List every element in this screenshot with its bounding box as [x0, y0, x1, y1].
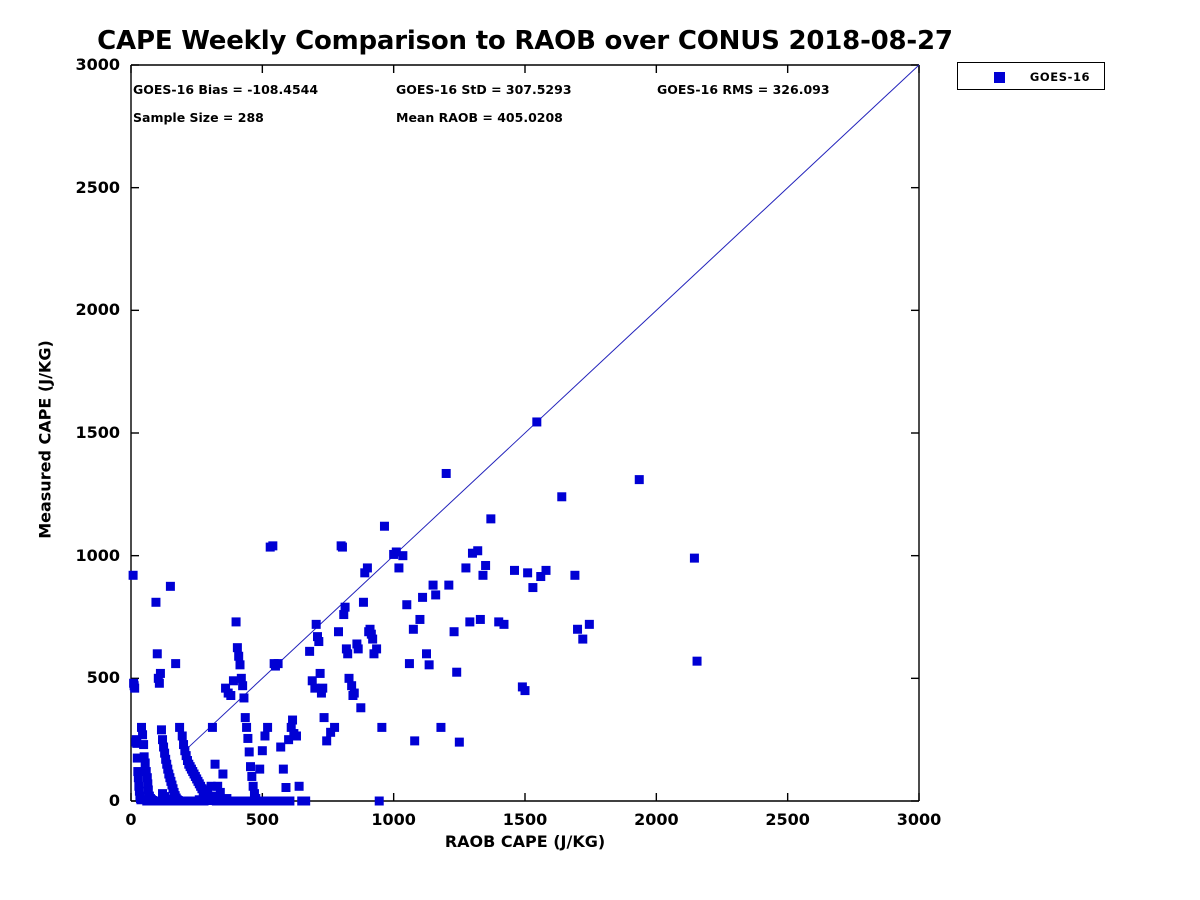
scatter-point: [405, 659, 414, 668]
plot-canvas: [0, 0, 1200, 900]
scatter-point: [285, 797, 294, 806]
scatter-point: [276, 743, 285, 752]
scatter-point: [473, 546, 482, 555]
scatter-point: [478, 571, 487, 580]
scatter-point: [274, 659, 283, 668]
scatter-point: [207, 782, 216, 791]
scatter-point: [557, 492, 566, 501]
scatter-point: [452, 668, 461, 677]
y-tick-label: 1000: [40, 546, 120, 565]
scatter-point: [208, 723, 217, 732]
scatter-point: [255, 765, 264, 774]
scatter-point: [153, 649, 162, 658]
scatter-point: [444, 581, 453, 590]
legend-marker-icon: [994, 72, 1005, 83]
scatter-point: [330, 723, 339, 732]
scatter-point: [281, 783, 290, 792]
scatter-point: [305, 647, 314, 656]
scatter-point: [442, 469, 451, 478]
scatter-point: [476, 615, 485, 624]
scatter-point: [156, 669, 165, 678]
scatter-points-group: [129, 417, 702, 805]
scatter-point: [218, 770, 227, 779]
scatter-point: [523, 568, 532, 577]
x-tick-label: 1500: [485, 810, 565, 829]
scatter-point: [242, 723, 251, 732]
scatter-point: [171, 659, 180, 668]
scatter-point: [175, 723, 184, 732]
scatter-point: [295, 782, 304, 791]
scatter-point: [380, 522, 389, 531]
legend[interactable]: GOES-16: [957, 62, 1105, 90]
x-tick-label: 0: [91, 810, 171, 829]
scatter-point: [233, 643, 242, 652]
scatter-point: [377, 723, 386, 732]
scatter-point: [141, 758, 150, 767]
scatter-point: [247, 772, 256, 781]
scatter-point: [178, 731, 187, 740]
scatter-point: [260, 731, 269, 740]
scatter-plot-figure: CAPE Weekly Comparison to RAOB over CONU…: [0, 0, 1200, 900]
scatter-point: [368, 635, 377, 644]
scatter-point: [510, 566, 519, 575]
scatter-point: [481, 561, 490, 570]
scatter-point: [486, 514, 495, 523]
scatter-point: [334, 627, 343, 636]
scatter-point: [238, 681, 247, 690]
scatter-point: [499, 620, 508, 629]
scatter-point: [690, 554, 699, 563]
scatter-point: [422, 649, 431, 658]
scatter-point: [157, 725, 166, 734]
scatter-point: [431, 590, 440, 599]
scatter-point: [343, 649, 352, 658]
scatter-point: [250, 797, 259, 806]
scatter-point: [229, 676, 238, 685]
scatter-point: [226, 691, 235, 700]
scatter-point: [415, 615, 424, 624]
scatter-point: [410, 736, 419, 745]
scatter-point: [316, 669, 325, 678]
scatter-point: [425, 660, 434, 669]
scatter-point: [570, 571, 579, 580]
scatter-point: [461, 563, 470, 572]
scatter-point: [232, 617, 241, 626]
scatter-point: [635, 475, 644, 484]
scatter-point: [166, 582, 175, 591]
scatter-point: [134, 773, 143, 782]
scatter-point: [465, 617, 474, 626]
scatter-point: [350, 689, 359, 698]
scatter-point: [528, 583, 537, 592]
scatter-point: [292, 731, 301, 740]
scatter-point: [246, 762, 255, 771]
scatter-point: [318, 684, 327, 693]
scatter-point: [573, 625, 582, 634]
scatter-point: [429, 581, 438, 590]
scatter-point: [288, 716, 297, 725]
scatter-point: [542, 566, 551, 575]
y-tick-label: 2500: [40, 178, 120, 197]
scatter-point: [301, 797, 310, 806]
scatter-point: [436, 723, 445, 732]
scatter-point: [243, 734, 252, 743]
scatter-point: [356, 703, 365, 712]
scatter-point: [375, 797, 384, 806]
x-tick-label: 2500: [748, 810, 828, 829]
y-tick-label: 500: [40, 668, 120, 687]
scatter-point: [245, 747, 254, 756]
x-axis-label: RAOB CAPE (J/KG): [0, 832, 1050, 851]
scatter-point: [354, 644, 363, 653]
scatter-point: [402, 600, 411, 609]
scatter-point: [138, 730, 147, 739]
scatter-point: [211, 760, 220, 769]
scatter-point: [359, 598, 368, 607]
scatter-point: [263, 723, 272, 732]
scatter-point: [139, 740, 148, 749]
scatter-point: [258, 746, 267, 755]
scatter-point: [236, 660, 245, 669]
scatter-point: [264, 797, 273, 806]
scatter-point: [532, 417, 541, 426]
scatter-point: [268, 541, 277, 550]
scatter-point: [398, 551, 407, 560]
y-tick-label: 2000: [40, 300, 120, 319]
scatter-point: [363, 563, 372, 572]
one-to-one-reference-line: [184, 65, 919, 752]
scatter-point: [322, 736, 331, 745]
scatter-point: [129, 571, 138, 580]
scatter-point: [450, 627, 459, 636]
scatter-point: [341, 603, 350, 612]
scatter-point: [320, 713, 329, 722]
legend-label: GOES-16: [1018, 70, 1102, 84]
scatter-point: [312, 620, 321, 629]
scatter-point: [241, 713, 250, 722]
y-tick-label: 1500: [40, 423, 120, 442]
scatter-point: [409, 625, 418, 634]
scatter-point: [155, 679, 164, 688]
scatter-point: [693, 657, 702, 666]
x-tick-label: 1000: [354, 810, 434, 829]
y-tick-label: 3000: [40, 55, 120, 74]
scatter-point: [314, 637, 323, 646]
y-tick-label: 0: [40, 791, 120, 810]
scatter-point: [372, 644, 381, 653]
scatter-point: [279, 765, 288, 774]
scatter-point: [455, 738, 464, 747]
scatter-point: [151, 598, 160, 607]
scatter-point: [239, 693, 248, 702]
x-tick-label: 2000: [616, 810, 696, 829]
x-tick-label: 3000: [879, 810, 959, 829]
x-tick-label: 500: [222, 810, 302, 829]
scatter-point: [521, 686, 530, 695]
scatter-point: [394, 563, 403, 572]
scatter-point: [418, 593, 427, 602]
scatter-point: [130, 684, 139, 693]
scatter-point: [234, 652, 243, 661]
scatter-point: [338, 543, 347, 552]
scatter-point: [578, 635, 587, 644]
scatter-point: [585, 620, 594, 629]
